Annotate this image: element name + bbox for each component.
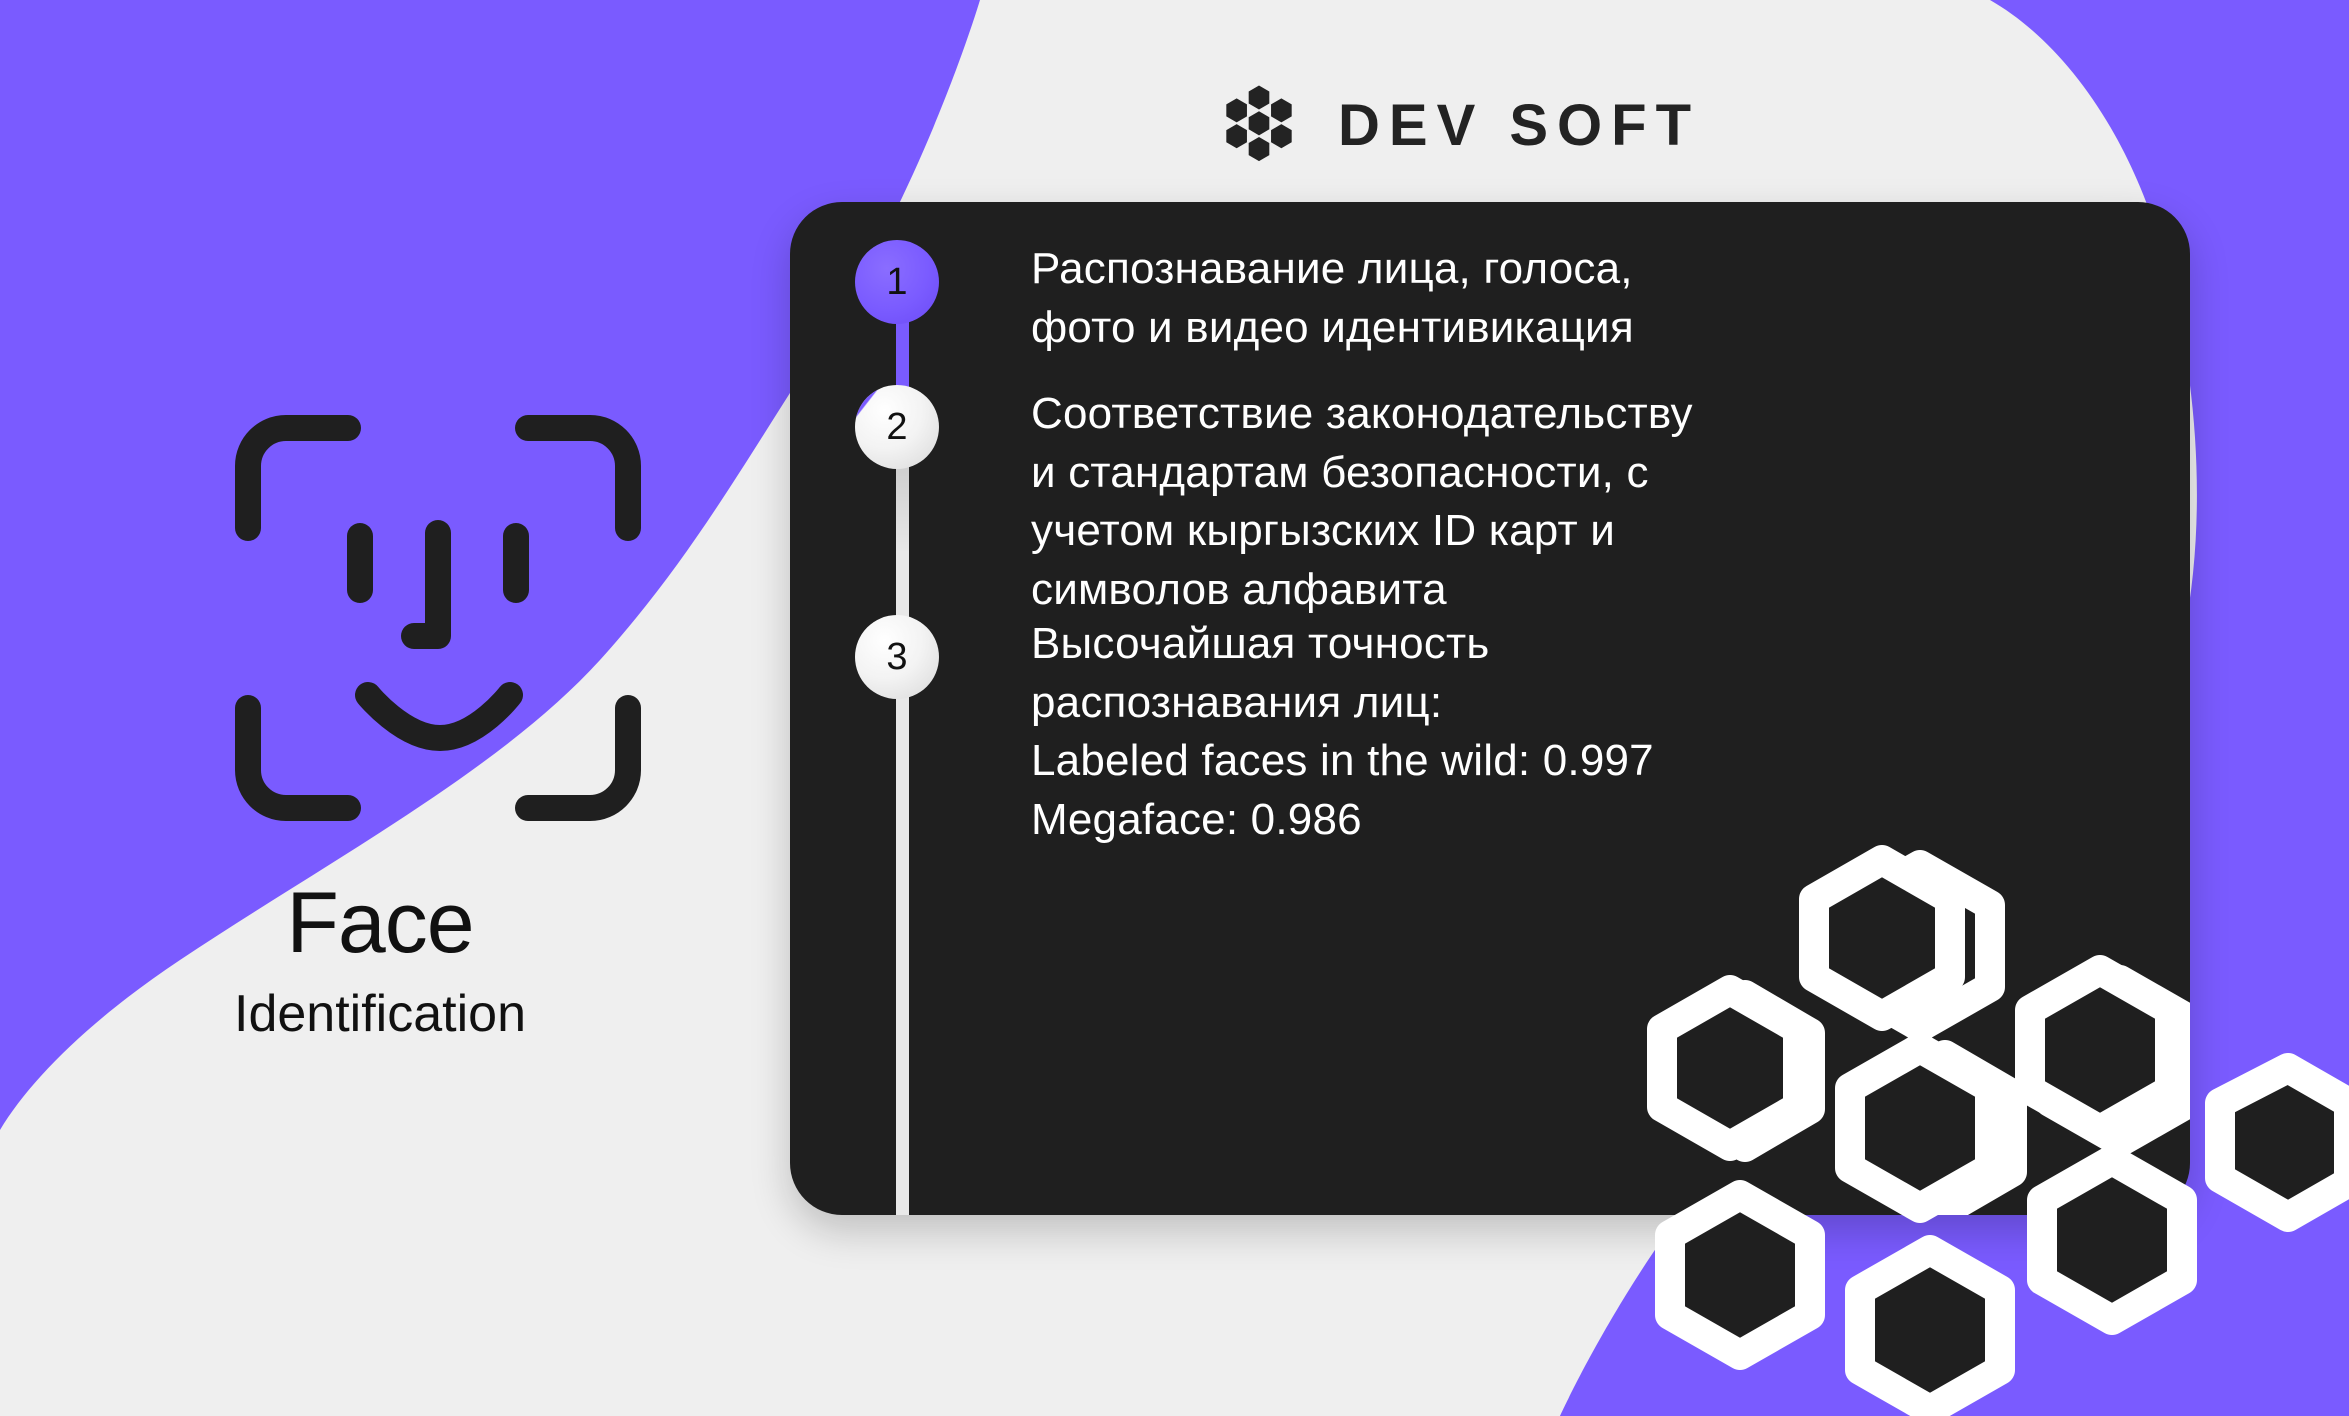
left-caption: Face Identification — [0, 880, 760, 1040]
poster-canvas: Face Identification DEV SOFT — [0, 0, 2349, 1416]
hexagon-cluster-icon — [1216, 82, 1302, 168]
timeline-step-3[interactable]: 3 Высочайшая точность распознавания лиц:… — [855, 615, 1654, 849]
step-badge-1[interactable]: 1 — [855, 240, 939, 324]
timeline-step-2[interactable]: 2 Соответствие законодательству и станда… — [855, 385, 1693, 619]
step-badge-2[interactable]: 2 — [855, 385, 939, 469]
step-text-3: Высочайшая точность распознавания лиц: L… — [1031, 615, 1654, 849]
step-text-1: Распознавание лица, голоса, фото и видео… — [1031, 240, 1634, 357]
steps-timeline: 1 Распознавание лица, голоса, фото и вид… — [855, 240, 2175, 1240]
brand-logo[interactable]: DEV SOFT — [1216, 82, 1700, 168]
step-text-2: Соответствие законодательству и стандарт… — [1031, 385, 1693, 619]
timeline-step-1[interactable]: 1 Распознавание лица, голоса, фото и вид… — [855, 240, 1634, 357]
step-number-1: 1 — [886, 263, 907, 301]
page-subtitle: Identification — [0, 988, 760, 1040]
left-panel: Face Identification — [0, 0, 760, 1416]
step-number-3: 3 — [886, 638, 907, 676]
brand-name: DEV SOFT — [1338, 92, 1700, 159]
step-badge-3[interactable]: 3 — [855, 615, 939, 699]
face-id-scan-icon — [228, 408, 648, 828]
step-number-2: 2 — [886, 408, 907, 446]
page-title: Face — [0, 880, 760, 966]
